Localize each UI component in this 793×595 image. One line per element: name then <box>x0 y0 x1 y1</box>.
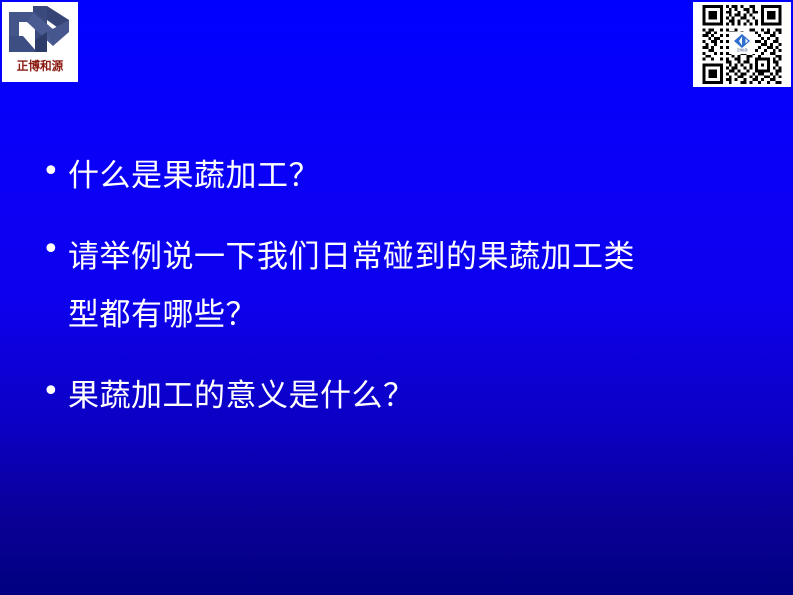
diamond-arrow-icon <box>734 34 750 48</box>
list-item: • 果蔬加工的意义是什么？ <box>36 370 766 422</box>
bullet-text-2-line-1: 请举例说一下我们日常碰到的果蔬加工类 <box>68 228 766 286</box>
qr-code[interactable]: 正博和源 <box>693 2 791 87</box>
logo-mark-icon <box>3 2 77 60</box>
company-logo: 正博和源 <box>2 2 78 82</box>
bullet-marker: • <box>36 370 68 414</box>
qr-center-logo: 正博和源 <box>729 32 755 54</box>
qr-center-label: 正博和源 <box>737 48 748 52</box>
bullet-list: • 什么是果蔬加工？ • 请举例说一下我们日常碰到的果蔬加工类 型都有哪些？ •… <box>36 150 766 448</box>
logo-company-name: 正博和源 <box>17 60 64 73</box>
list-item: • 请举例说一下我们日常碰到的果蔬加工类 型都有哪些？ <box>36 228 766 344</box>
list-item: • 什么是果蔬加工？ <box>36 150 766 202</box>
bullet-text-1: 什么是果蔬加工？ <box>68 150 766 202</box>
bullet-text-3: 果蔬加工的意义是什么？ <box>68 370 766 422</box>
bullet-marker: • <box>36 228 68 272</box>
bullet-marker: • <box>36 150 68 194</box>
slide-canvas: 正博和源 <box>0 0 793 595</box>
bullet-text-2: 请举例说一下我们日常碰到的果蔬加工类 型都有哪些？ <box>68 228 766 344</box>
bullet-text-2-line-2: 型都有哪些？ <box>68 286 766 344</box>
